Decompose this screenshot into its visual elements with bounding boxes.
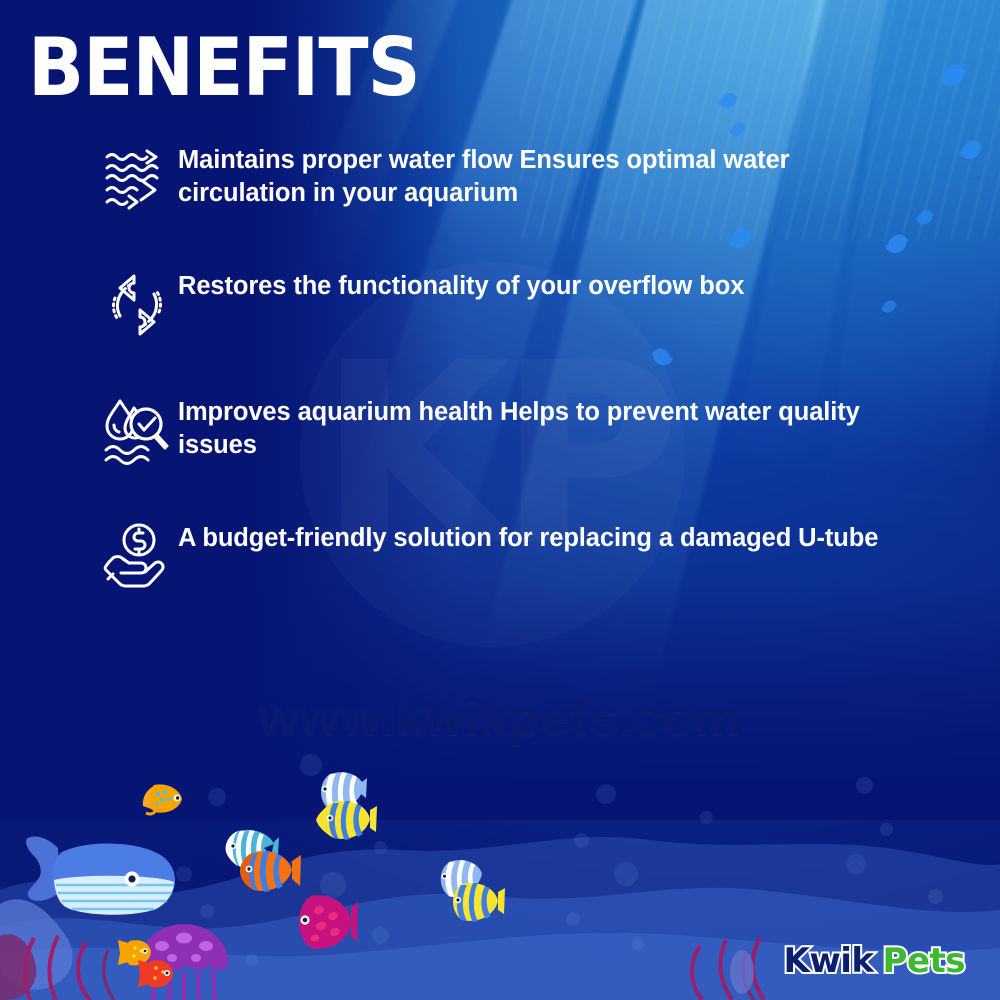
silhouette-fish-icon: [728, 122, 747, 137]
benefit-text: A budget-friendly solution for replacing…: [178, 518, 896, 555]
bubble: [574, 833, 589, 848]
silhouette-fish-icon: [717, 92, 739, 110]
bubble: [632, 938, 644, 950]
bubble: [566, 912, 580, 926]
hand-holding-coin-icon: [96, 518, 178, 596]
benefit-text: Improves aquarium health Helps to preven…: [178, 392, 896, 461]
bubble: [208, 788, 226, 806]
tropical-fish-illustration: [232, 848, 302, 896]
silhouette-fish-icon: [958, 140, 984, 161]
tropical-fish-illustration: [283, 892, 359, 954]
bubble: [200, 904, 214, 918]
benefit-item: Maintains proper water flow Ensures opti…: [96, 140, 896, 218]
benefit-item: Improves aquarium health Helps to preven…: [96, 392, 896, 470]
bubble: [372, 927, 389, 944]
tropical-fish-illustration: [136, 958, 176, 990]
whale-illustration: [22, 832, 182, 918]
water-quality-inspect-icon: [96, 392, 178, 470]
silhouette-fish-icon: [938, 64, 968, 88]
bubble: [246, 954, 258, 966]
page-title: BENEFITS: [28, 28, 420, 108]
tropical-fish-illustration: [312, 798, 378, 844]
url-watermark: www.kwikpets.com: [0, 688, 1000, 748]
benefits-infographic: KP www.kwikpets.com BENEFITS Maintains p…: [0, 0, 1000, 1000]
benefit-text: Maintains proper water flow Ensures opti…: [178, 140, 896, 209]
bubble: [928, 889, 943, 904]
benefits-list: Maintains proper water flow Ensures opti…: [96, 140, 896, 644]
bubble: [856, 777, 873, 794]
benefit-text: Restores the functionality of your overf…: [178, 266, 896, 303]
logo-word-kwik: Kwik: [784, 944, 874, 978]
tropical-fish-illustration: [140, 782, 186, 816]
logo-word-pets: Pets: [883, 944, 965, 978]
benefit-item: A budget-friendly solution for replacing…: [96, 518, 896, 596]
bubble: [614, 862, 638, 886]
silhouette-fish-icon: [915, 210, 935, 226]
benefit-item: Restores the functionality of your overf…: [96, 266, 896, 344]
bubble: [846, 854, 866, 874]
restore-refresh-icon: [96, 266, 178, 344]
tropical-fish-illustration: [440, 880, 506, 926]
bubble: [700, 811, 713, 824]
brand-logo[interactable]: Kwik Pets: [784, 944, 966, 978]
bubble: [880, 823, 893, 836]
water-flow-icon: [96, 140, 178, 218]
bubble: [596, 784, 616, 804]
